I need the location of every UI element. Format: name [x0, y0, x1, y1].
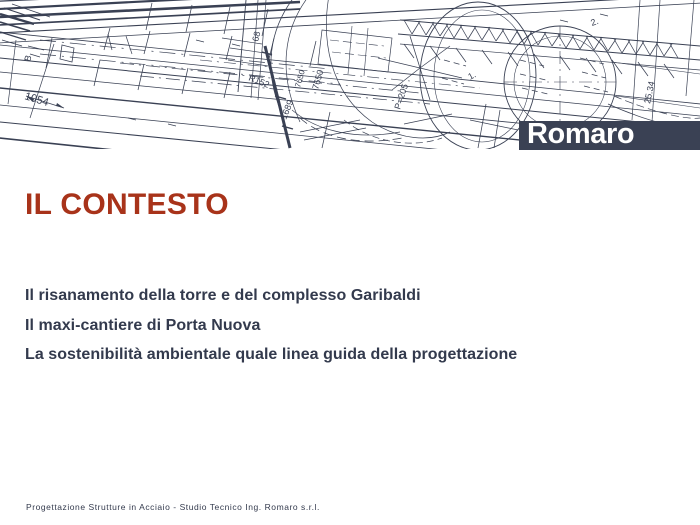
bullet-list: Il risanamento della torre e del comples… [25, 281, 675, 370]
page-title: IL CONTESTO [25, 187, 229, 223]
list-item: Il maxi-cantiere di Porta Nuova [25, 311, 675, 341]
presentation-slide: 1054 R152 7650 7650 68 1689 P=205 25.34 … [0, 0, 700, 525]
romaro-logo-text: Romaro [527, 118, 634, 151]
list-item: Il risanamento della torre e del comples… [25, 281, 675, 311]
romaro-logo-badge: Romaro [519, 121, 700, 150]
slide-footer: Progettazione Strutture in Acciaio - Stu… [26, 501, 320, 513]
list-item: La sostenibilità ambientale quale linea … [25, 340, 675, 370]
